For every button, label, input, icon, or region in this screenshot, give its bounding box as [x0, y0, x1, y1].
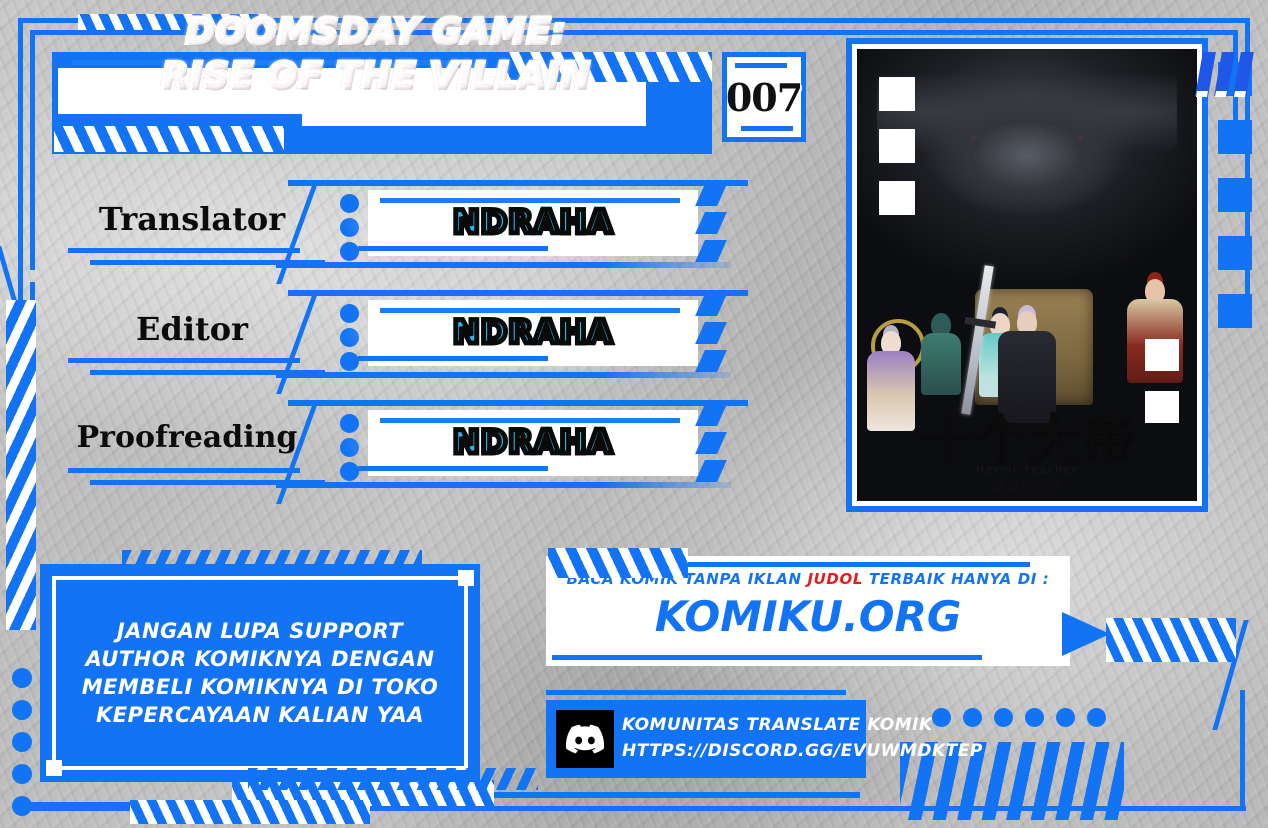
credit-top-line	[288, 180, 748, 186]
credit-dot-decoration	[340, 304, 359, 376]
credit-name-text: NDRAHA	[453, 313, 613, 351]
cover-cutout-square-3	[879, 181, 915, 215]
title-banner	[52, 52, 712, 154]
komiku-line-top	[674, 562, 1030, 567]
support-line-2: AUTHOR KOMIKNYA DENGAN	[85, 647, 434, 671]
credit-dot-decoration	[340, 194, 359, 266]
credit-dot-decoration	[340, 414, 359, 486]
title-banner-stripes-top-right	[502, 52, 712, 82]
support-line-3: MEMBELI KOMIKNYA DI TOKO	[82, 675, 439, 699]
credit-role-label: Proofreading	[42, 420, 332, 455]
credit-right-slant-decoration	[700, 184, 722, 268]
credit-name-text: NDRAHA	[453, 423, 613, 461]
top-chevron-decoration	[78, 14, 268, 30]
chapter-box-line-bottom	[741, 126, 793, 131]
komiku-chevron-decoration	[1106, 618, 1236, 662]
support-message-box: JANGAN LUPA SUPPORT AUTHOR KOMIKNYA DENG…	[40, 564, 480, 782]
frame-line-top-inner	[30, 30, 1238, 35]
chapter-number-box: 007	[722, 52, 806, 142]
cover-cutout-square-4	[1145, 339, 1179, 371]
title-banner-accent-line	[72, 60, 472, 65]
discord-icon	[556, 710, 614, 768]
credit-role-label: Editor	[62, 310, 322, 348]
credit-bottom-line	[276, 372, 731, 378]
komiku-line-bottom	[552, 655, 982, 660]
exclamation-marks-decoration	[1199, 52, 1250, 96]
discord-community-name: KOMUNITAS TRANSLATE KOMIK	[622, 712, 983, 738]
komiku-banner-stripes	[548, 548, 688, 578]
discord-invite-bar[interactable]: KOMUNITAS TRANSLATE KOMIK HTTPS://DISCOR…	[546, 700, 866, 778]
frame-line-left-inner	[30, 30, 35, 270]
title-banner-stripes-bottom-left	[54, 126, 284, 152]
credit-role-label: Translator	[62, 200, 322, 238]
support-message-text: JANGAN LUPA SUPPORT AUTHOR KOMIKNYA DENG…	[40, 564, 480, 782]
credit-right-slant-decoration	[700, 294, 722, 378]
support-line-1: JANGAN LUPA SUPPORT	[117, 619, 403, 643]
credit-name-text-wrap: NDRAHA	[368, 194, 698, 250]
discord-top-line	[546, 690, 846, 695]
credit-row-proofreading: Proofreading NDRAHA	[40, 400, 720, 512]
credit-label-underline-a	[68, 468, 300, 473]
komiku-url[interactable]: KOMIKU.ORG	[546, 592, 1070, 641]
discord-dot-decoration	[932, 708, 1106, 727]
cover-image-frame: 十个大帝 Heroic teacher 都是我徒弟	[852, 44, 1202, 506]
komiku-tagline-highlight: JUDOL	[807, 570, 863, 588]
credit-bottom-line	[276, 482, 731, 488]
credit-name-text-wrap: NDRAHA	[368, 304, 698, 360]
credit-row-editor: Editor NDRAHA	[40, 290, 720, 402]
dragon-silhouette	[877, 73, 1177, 223]
credit-label-underline-a	[68, 248, 300, 253]
frame-line-right-lower	[1240, 690, 1245, 810]
credit-label-underline-a	[68, 358, 300, 363]
credit-name-text: NDRAHA	[453, 203, 613, 241]
credit-row-translator: Translator NDRAHA	[40, 180, 720, 292]
cover-cutout-square-2	[879, 129, 915, 163]
komiku-tagline-after: TERBAIK HANYA DI :	[863, 570, 1049, 588]
cover-title-group: 十个大帝 Heroic teacher 都是我徒弟	[857, 413, 1197, 495]
frame-line-left	[18, 18, 23, 338]
credit-top-line	[288, 400, 748, 406]
discord-text-group: KOMUNITAS TRANSLATE KOMIK HTTPS://DISCOR…	[622, 712, 983, 764]
cover-cutout-square-1	[879, 77, 915, 111]
support-box-stripes-bottom	[248, 768, 538, 790]
credit-name-text-wrap: NDRAHA	[368, 414, 698, 470]
left-edge-stripe-decoration	[6, 300, 36, 630]
cover-cutout-square-5	[1145, 391, 1179, 423]
credit-right-slant-decoration	[700, 404, 722, 488]
bottom-chevron-decoration-2	[130, 800, 370, 824]
left-dot-decoration	[12, 668, 32, 828]
cover-side-square-decoration	[1218, 62, 1252, 352]
discord-invite-url[interactable]: HTTPS://DISCORD.GG/EVUWMDKTEP	[622, 738, 983, 764]
character-figure-teal	[921, 313, 961, 395]
character-figure-main	[998, 311, 1056, 423]
cover-english-subtitle: Heroic teacher	[857, 463, 1197, 476]
cover-image-panel: 十个大帝 Heroic teacher 都是我徒弟	[846, 38, 1208, 512]
cover-chinese-subtitle: 都是我徒弟	[857, 476, 1197, 495]
chapter-box-line-top	[735, 63, 787, 68]
chapter-number: 007	[726, 75, 802, 120]
support-line-4: KEPERCAYAAN KALIAN YAA	[96, 703, 424, 727]
credit-bottom-line	[276, 262, 731, 268]
credit-top-line	[288, 290, 748, 296]
